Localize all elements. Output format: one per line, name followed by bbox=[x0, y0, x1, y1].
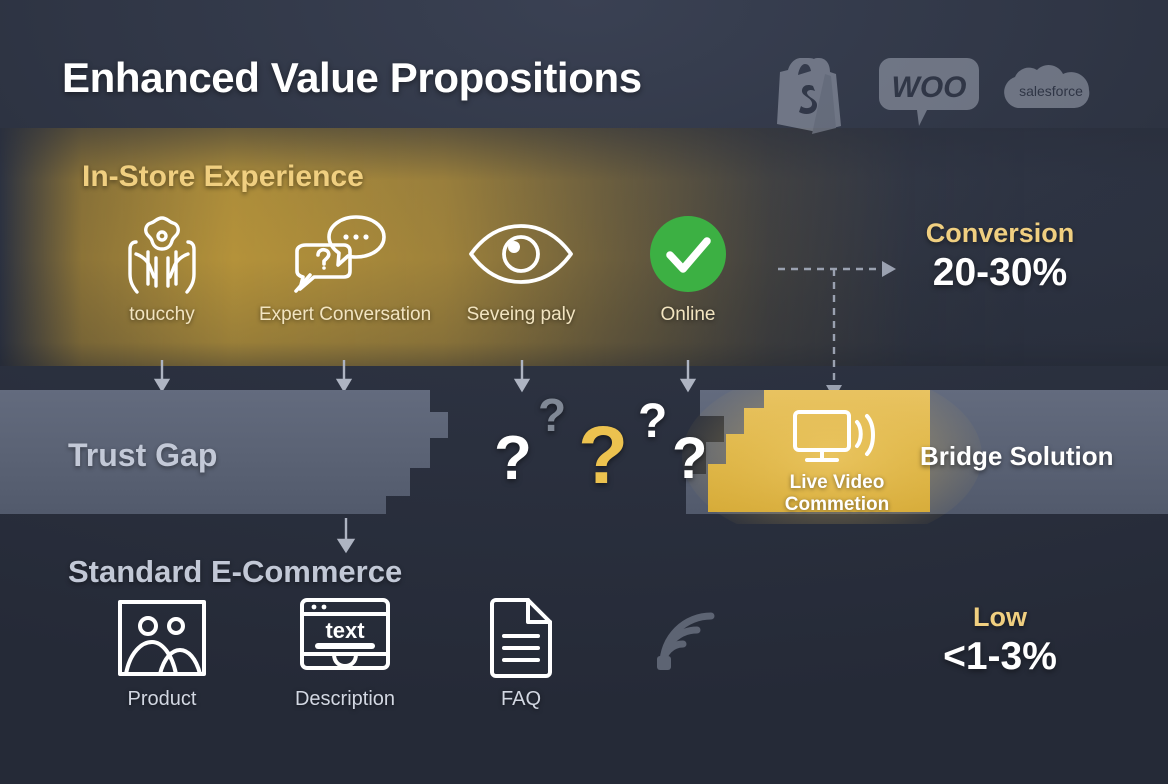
instore-item-touchy: toucchy bbox=[82, 212, 242, 326]
live-video-caption-line2: Commetion bbox=[762, 495, 912, 515]
conversion-stat: Conversion 20-30% bbox=[900, 218, 1100, 295]
hands-holding-product-icon bbox=[82, 212, 242, 296]
infographic-canvas: Enhanced Value Propositions WOO salesfor… bbox=[0, 0, 1168, 784]
instore-item-label: Online bbox=[608, 304, 768, 326]
bridge-solution-title: Bridge Solution bbox=[920, 441, 1114, 472]
low-stat-label: Low bbox=[900, 602, 1100, 633]
platform-logos: WOO salesforce bbox=[775, 48, 1115, 140]
ecommerce-item-product: Product bbox=[82, 596, 242, 711]
ecommerce-item-faq: FAQ bbox=[441, 596, 601, 711]
ecommerce-item-label: Description bbox=[265, 688, 425, 711]
live-video-caption-line1: Live Video bbox=[762, 473, 912, 493]
live-video-monitor-icon bbox=[791, 408, 883, 466]
question-mark: ? bbox=[578, 415, 628, 497]
page-title: Enhanced Value Propositions bbox=[62, 54, 642, 102]
browser-text-icon: text bbox=[265, 596, 425, 680]
instore-item-seeing: Seveing paly bbox=[441, 212, 601, 326]
conversion-stat-value: 20-30% bbox=[900, 251, 1100, 295]
browser-inner-text: text bbox=[325, 618, 365, 643]
instore-item-expert: Expert Conversation bbox=[259, 212, 419, 326]
ecommerce-item-description: text Description bbox=[265, 596, 425, 711]
chat-bubbles-question-icon bbox=[259, 212, 419, 296]
ecommerce-heading: Standard E-Commerce bbox=[68, 554, 402, 590]
instore-heading: In-Store Experience bbox=[82, 160, 364, 194]
instore-item-label: Seveing paly bbox=[441, 304, 601, 326]
eye-icon bbox=[441, 212, 601, 296]
document-lines-icon bbox=[441, 596, 601, 680]
question-mark: ? bbox=[538, 392, 566, 438]
svg-text:salesforce: salesforce bbox=[1019, 83, 1083, 99]
live-video-bridge: Live Video Commetion bbox=[762, 408, 912, 515]
trust-gap-title: Trust Gap bbox=[68, 437, 217, 474]
question-mark: ? bbox=[494, 428, 532, 490]
svg-text:WOO: WOO bbox=[892, 71, 967, 104]
conversion-stat-label: Conversion bbox=[900, 218, 1100, 249]
green-check-circle-icon bbox=[608, 212, 768, 296]
salesforce-logo: salesforce bbox=[997, 60, 1105, 122]
wifi-signal-icon bbox=[607, 596, 767, 680]
woocommerce-logo: WOO bbox=[879, 54, 979, 128]
low-stat-value: <1-3% bbox=[900, 635, 1100, 679]
ecommerce-item-label: Product bbox=[82, 688, 242, 711]
instore-to-gap-arrows bbox=[0, 360, 1168, 394]
product-image-icon bbox=[82, 596, 242, 680]
question-mark: ? bbox=[672, 430, 707, 488]
instore-item-label: toucchy bbox=[82, 304, 242, 326]
question-mark: ? bbox=[638, 398, 667, 446]
shopify-logo bbox=[775, 48, 845, 134]
ecommerce-item-signal bbox=[607, 596, 767, 688]
instore-item-label: Expert Conversation bbox=[259, 304, 419, 326]
instore-item-online: Online bbox=[608, 212, 768, 326]
low-conversion-stat: Low <1-3% bbox=[900, 602, 1100, 679]
ecommerce-item-label: FAQ bbox=[441, 688, 601, 711]
